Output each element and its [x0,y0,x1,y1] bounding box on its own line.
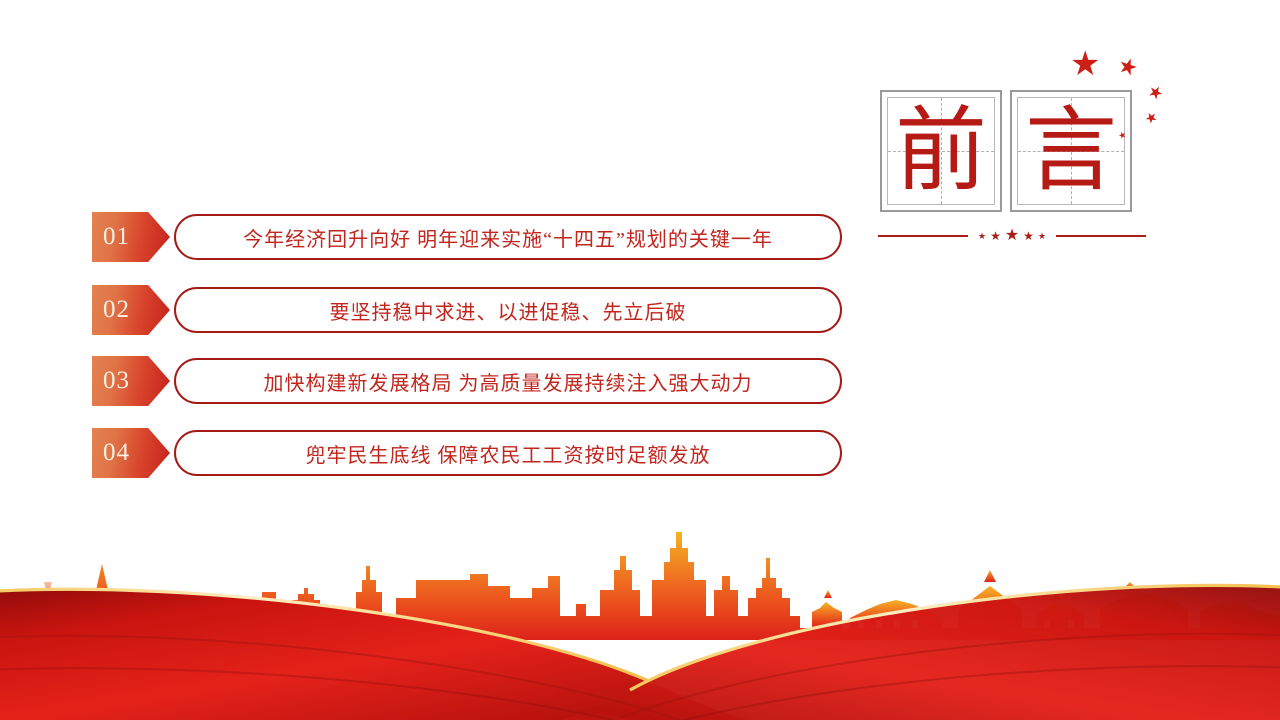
item-text: 今年经济回升向好 明年迎来实施“十四五”规划的关键一年 [243,223,773,252]
list-item[interactable]: 02 要坚持稳中求进、以进促稳、先立后破 [92,285,842,335]
divider-star-2-icon: ★ [990,230,1001,242]
item-text: 要坚持稳中求进、以进促稳、先立后破 [330,296,687,325]
flag-star-cluster-icon: ★★★★★ [1040,36,1220,146]
divider-stars-icon: ★★★★★ [968,228,1056,244]
divider-star-4-icon: ★ [1023,230,1034,242]
item-pill[interactable]: 要坚持稳中求进、以进促稳、先立后破 [174,287,842,333]
flag-star-3-icon: ★ [1145,81,1167,103]
divider-rule-right [1056,235,1146,237]
item-text: 兜牢民生底线 保障农民工工资按时足额发放 [306,439,711,468]
divider-star-5-icon: ★ [1038,232,1046,241]
flag-star-4-icon: ★ [1141,110,1160,129]
bottom-decoration [0,470,1280,720]
title-char-1: 前 [882,92,1000,210]
divider-star-1-icon: ★ [978,232,986,241]
item-number-label: 01 [103,223,130,251]
divider-rule-left [878,235,968,237]
flag-star-5-icon: ★ [1116,130,1128,142]
skyline-and-ribbon-illustration [0,470,1280,720]
item-pill[interactable]: 今年经济回升向好 明年迎来实施“十四五”规划的关键一年 [174,214,842,260]
item-number-label: 02 [103,296,130,324]
item-number-badge: 01 [92,212,170,262]
title-divider: ★★★★★ [878,226,1146,246]
flag-star-2-icon: ★ [1115,53,1141,80]
slide-canvas: 前 言 ★★★★★ ★★★★★ 01 今年经济回升向好 明年迎来实施“十四五”规… [0,0,1280,720]
list-item[interactable]: 03 加快构建新发展格局 为高质量发展持续注入强大动力 [92,356,842,406]
item-number-badge: 02 [92,285,170,335]
item-text: 加快构建新发展格局 为高质量发展持续注入强大动力 [264,367,753,396]
divider-star-3-icon: ★ [1005,228,1019,244]
flag-star-1-icon: ★ [1070,48,1100,82]
item-number-label: 04 [103,439,130,467]
list-item[interactable]: 01 今年经济回升向好 明年迎来实施“十四五”规划的关键一年 [92,212,842,262]
title-char-box-1: 前 [880,90,1002,212]
item-number-label: 03 [103,367,130,395]
item-pill[interactable]: 加快构建新发展格局 为高质量发展持续注入强大动力 [174,358,842,404]
item-number-badge: 03 [92,356,170,406]
